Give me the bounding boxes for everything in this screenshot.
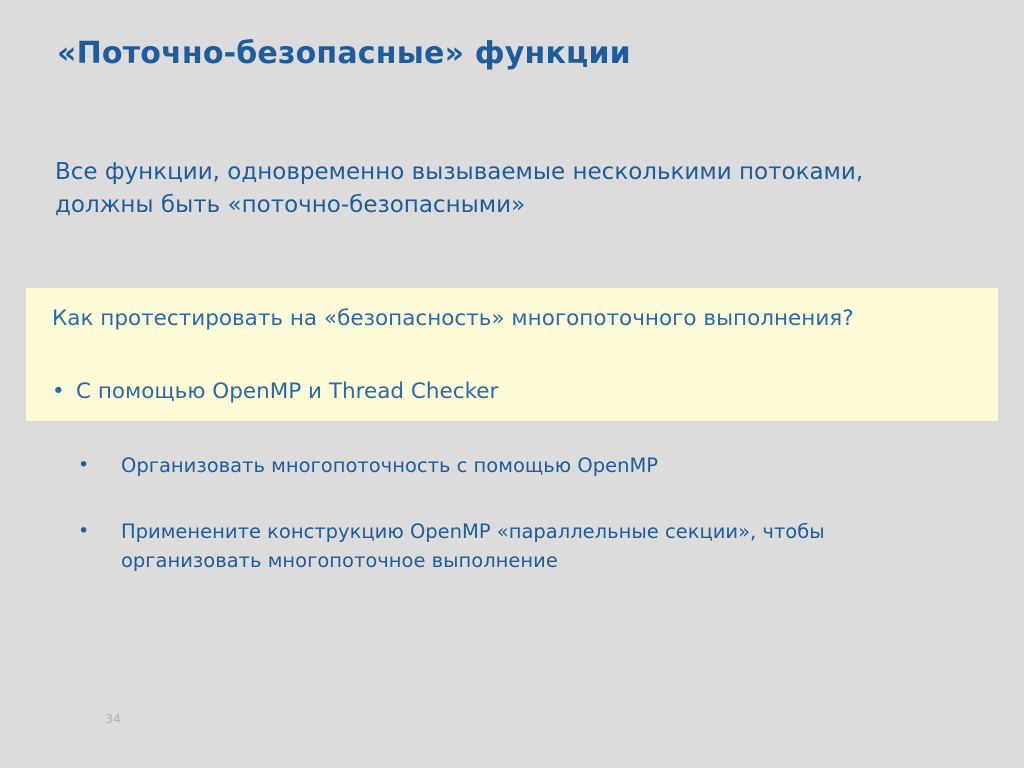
intro-paragraph: Все функции, одновременно вызываемые нес… [55, 156, 915, 221]
list-item: • Организовать многопоточность с помощью… [78, 452, 958, 480]
highlight-question: Как протестировать на «безопасность» мно… [52, 304, 952, 333]
presentation-slide: «Поточно-безопасные» функции Все функции… [0, 0, 1024, 768]
slide-title: «Поточно-безопасные» функции [57, 36, 957, 72]
page-number: 34 [105, 711, 121, 726]
bullet-dot-icon: • [78, 452, 121, 480]
highlight-callout-box: Как протестировать на «безопасность» мно… [26, 288, 998, 421]
list-item-label: Применените конструкцию OpenMP «параллел… [121, 518, 958, 575]
highlight-bullet-label: С помощью OpenMP и Thread Checker [76, 378, 498, 406]
highlight-bullet-item: • С помощью OpenMP и Thread Checker [52, 378, 952, 406]
sub-bullet-list: • Организовать многопоточность с помощью… [78, 452, 958, 613]
list-item: • Применените конструкцию OpenMP «паралл… [78, 518, 958, 575]
bullet-dot-icon: • [78, 518, 121, 546]
bullet-dot-icon: • [52, 378, 76, 406]
list-item-label: Организовать многопоточность с помощью O… [121, 452, 958, 480]
